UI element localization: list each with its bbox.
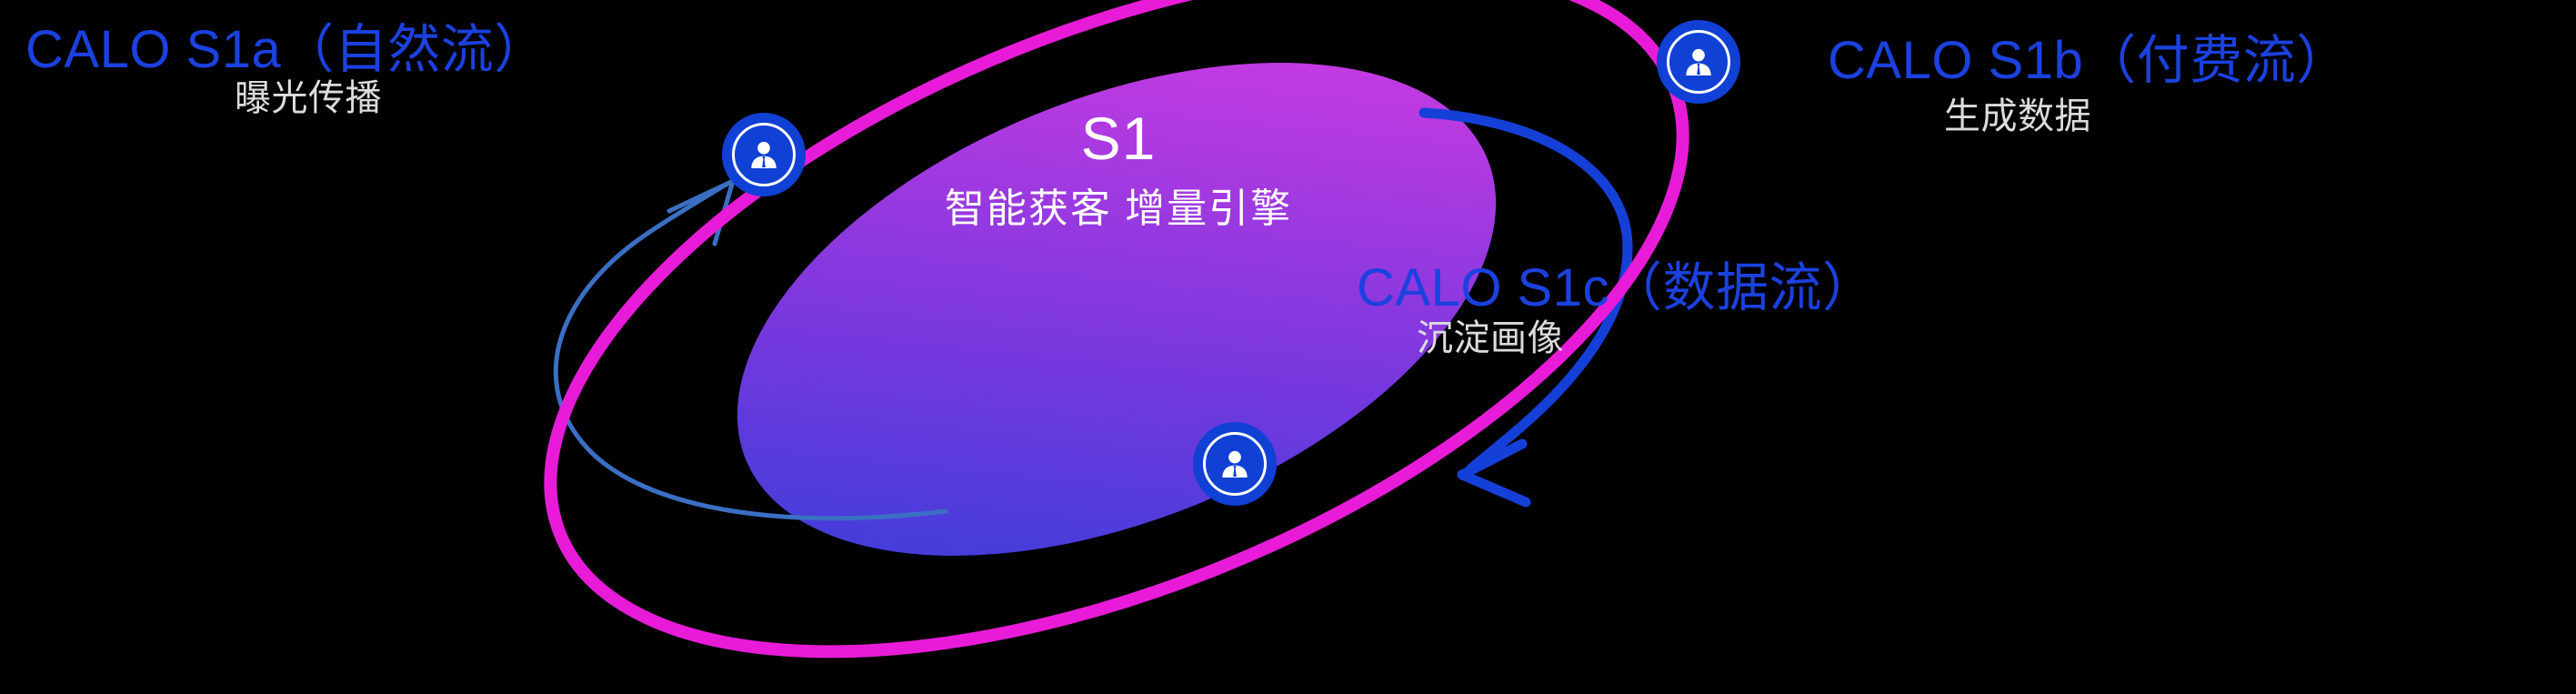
label-s1c-title: CALO S1c（数据流）	[1357, 262, 1876, 315]
node-s1c[interactable]	[1193, 422, 1277, 506]
label-s1b-title: CALO S1b（付费流）	[1828, 35, 2350, 87]
label-s1b-subtitle: 生成数据	[1944, 98, 2091, 135]
node-s1a[interactable]	[722, 113, 806, 196]
person-icon	[1217, 446, 1253, 482]
diagram-vector-layer	[0, 0, 2576, 694]
label-s1a-title: CALO S1a（自然流）	[25, 24, 547, 76]
person-icon	[1680, 44, 1717, 80]
person-icon	[746, 136, 782, 173]
node-s1b[interactable]	[1657, 20, 1740, 104]
label-s1c-subtitle: 沉淀画像	[1417, 320, 1564, 357]
label-s1a-subtitle: 曝光传播	[235, 80, 382, 116]
diagram-canvas: S1 智能获客 增量引擎 CALO S1a（自然流） 曝光传播 CALO S1b…	[0, 0, 2576, 694]
